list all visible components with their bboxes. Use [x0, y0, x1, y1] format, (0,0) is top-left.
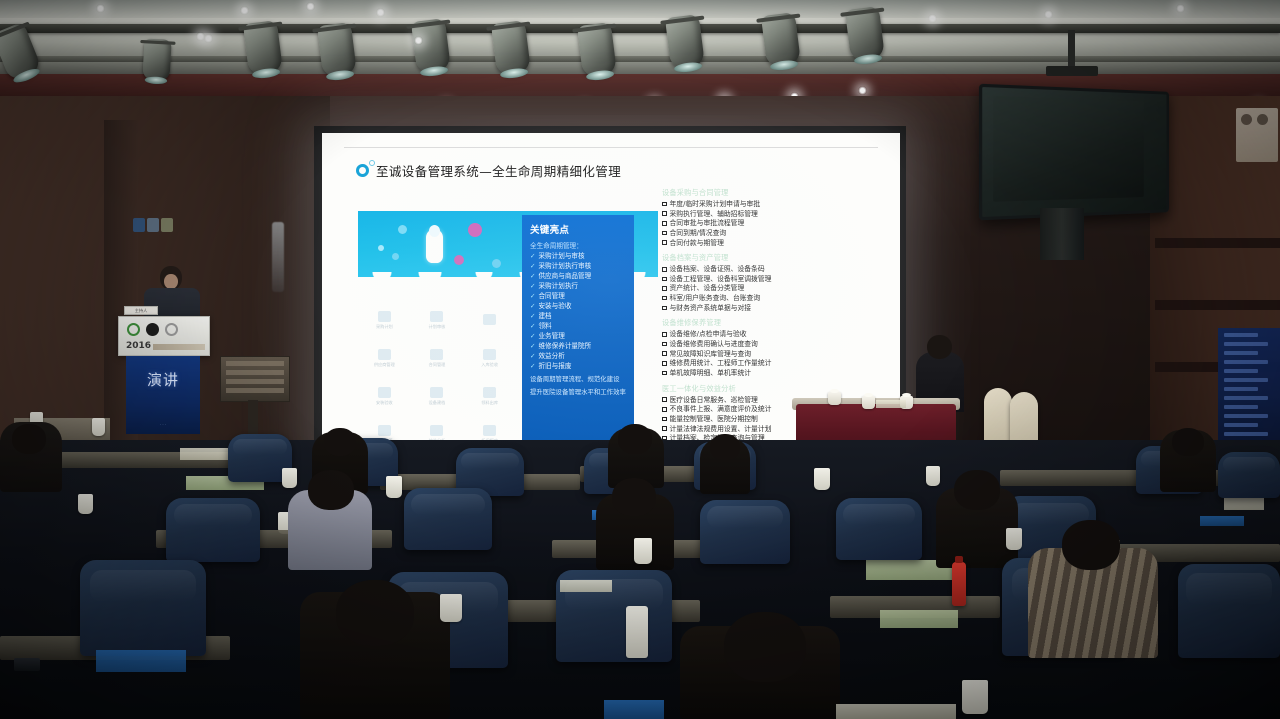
gear-icon [356, 164, 369, 177]
workflow-icon-cell: 领料出库 [463, 377, 516, 415]
audience-head [12, 424, 46, 454]
key-point-label: 采购计划与审核 [538, 253, 584, 260]
chart-icon [430, 425, 443, 436]
checkbox-icon [662, 231, 667, 236]
module-item-label: 科室/用户账务查询、台账查询 [670, 294, 761, 304]
checkbox-icon [662, 296, 667, 301]
checkbox-icon [662, 267, 667, 272]
stage-light [665, 14, 705, 70]
workflow-icon-label: 合同管理 [429, 362, 446, 368]
stage-light-pole [142, 39, 171, 82]
right-wall-trim [1155, 238, 1280, 248]
module-item: 合同付款与期管理 [662, 239, 872, 249]
checkbox-icon [662, 342, 667, 347]
bubble-icon [454, 255, 464, 265]
folder-icon [430, 387, 443, 398]
workflow-icon-label: 供应商管理 [374, 362, 395, 368]
podium-nameplate-text: 主持人 [125, 307, 157, 315]
paper-cup [962, 680, 988, 714]
key-point-label: 维修保养计量院所 [538, 343, 591, 350]
tv-mount-bracket [1046, 66, 1098, 76]
handshake-icon [378, 349, 391, 360]
module-item-label: 计量法律法规费用设置、计量计划 [670, 425, 772, 435]
umbrella-icon [468, 223, 482, 237]
audience-head [954, 470, 1000, 510]
podium-tagline-bar [153, 344, 205, 350]
teacup [862, 396, 875, 409]
speaker-face [164, 274, 178, 289]
penguin-mascot-icon [426, 229, 443, 263]
av-equipment-rack [220, 356, 290, 402]
module-item: 科室/用户账务查询、台账查询 [662, 294, 872, 304]
audience-head [1062, 520, 1120, 570]
chair [404, 488, 492, 550]
checkbox-icon [662, 306, 667, 311]
audience-head [324, 428, 356, 456]
mobile-phone [14, 658, 40, 671]
key-point-label: 效益分析 [538, 353, 564, 360]
check-icon: ✓ [530, 343, 535, 350]
module-item-label: 采购执行管理、辅助招标管理 [670, 210, 758, 220]
paper-cup [1006, 528, 1022, 550]
blank-icon [483, 314, 496, 325]
key-point-item: ✓领料 [530, 323, 626, 330]
key-point-label: 业务管理 [538, 333, 564, 340]
module-item-label: 设备维修费用确认与进度查询 [670, 340, 758, 350]
workflow-icon-cell: 设备建档 [411, 377, 464, 415]
check-icon: ✓ [530, 303, 535, 310]
lighting-truss [0, 24, 1280, 33]
check-icon: ✓ [530, 323, 535, 330]
module-item: 与财务资产系统单据与对接 [662, 304, 872, 314]
key-points-note: 设备周期管理流程、规范化建设 [530, 375, 626, 383]
document-icon [378, 311, 391, 322]
outline-circle-logo-icon [165, 323, 178, 336]
checkbox-icon [662, 397, 667, 402]
workflow-icon-label: 领料出库 [481, 400, 498, 406]
slide-title-divider [344, 147, 878, 148]
tv-lower-housing [1040, 208, 1084, 260]
module-item: 合同审批与审批流程管理 [662, 219, 872, 229]
key-points-panel: 关键亮点 全生命周期管理： ✓采购计划与审核✓采购计划执行审核✓供应商与商品管理… [522, 215, 634, 460]
check-icon: ✓ [530, 313, 535, 320]
workflow-icon-cell: 计划审核 [411, 301, 464, 339]
check-icon: ✓ [530, 263, 535, 270]
podium-year: 2016 [126, 341, 151, 351]
module-item-label: 不良事件上报、满意度评价及统计 [670, 405, 772, 415]
conference-hall-photo: 至诚设备管理系统—全生命周期精细化管理 关键亮点 全生命周期管理： ✓采购计划与… [0, 0, 1280, 719]
audience-head [1172, 428, 1204, 456]
module-heading: 设备采购与合同管理 [662, 188, 872, 198]
water-bottle [626, 606, 648, 658]
paper-cup [78, 494, 93, 514]
module-heading: 设备维修保养管理 [662, 318, 872, 328]
check-icon: ✓ [530, 363, 535, 370]
ceiling-speaker [1236, 108, 1278, 162]
workflow-icon-label: 入库验收 [481, 362, 498, 368]
key-point-item: ✓采购计划与审核 [530, 253, 626, 260]
audience-head [710, 434, 740, 460]
module-item-label: 能量控制管理、医院分期控制 [670, 415, 758, 425]
module-item-label: 年度/临时采购计划申请与审批 [670, 200, 761, 210]
module-item-label: 合同到期/情况查询 [670, 229, 727, 239]
paper [180, 448, 228, 460]
paper-cup [282, 468, 297, 488]
check-icon: ✓ [530, 353, 535, 360]
checkbox-icon [662, 211, 667, 216]
podium-base-label: 演讲 [126, 372, 200, 390]
key-point-item: ✓建档 [530, 313, 626, 320]
head-table-chair [984, 388, 1012, 448]
audience-head [612, 478, 656, 516]
stage-light [491, 20, 531, 76]
key-point-item: ✓业务管理 [530, 333, 626, 340]
stage-light [761, 12, 801, 68]
wall-sconce [272, 222, 284, 292]
module-item-label: 资产统计、设备分类管理 [670, 284, 745, 294]
module-item: 合同到期/情况查询 [662, 229, 872, 239]
chair [166, 498, 260, 562]
paper [560, 580, 612, 592]
bubble-icon [398, 225, 407, 234]
chair [80, 560, 206, 656]
blue-folder [1200, 516, 1244, 526]
module-item-label: 设备维修/点检申请与验收 [670, 330, 747, 340]
checkbox-icon [662, 407, 667, 412]
podium-nameplate: 主持人 [124, 306, 158, 315]
checkbox-icon [662, 221, 667, 226]
check-icon: ✓ [530, 253, 535, 260]
checkbox-icon [662, 417, 667, 422]
check-icon: ✓ [530, 283, 535, 290]
podium-logos [127, 323, 178, 336]
paper-cup [386, 476, 402, 498]
paper-cup [926, 466, 940, 486]
ring-logo-icon [127, 323, 140, 336]
paper-cup [92, 418, 105, 436]
key-point-label: 供应商与商品管理 [538, 273, 591, 280]
paper-cup [634, 538, 652, 564]
paper [1224, 498, 1264, 510]
slide-title-text: 至诚设备管理系统—全生命周期精细化管理 [376, 161, 621, 180]
key-point-item: ✓维修保养计量院所 [530, 343, 626, 350]
document [876, 400, 906, 408]
recycle-icon [483, 425, 496, 436]
module-item-label: 合同付款与期管理 [670, 239, 724, 249]
stage-light [243, 20, 283, 76]
box-icon [483, 387, 496, 398]
module-item-label: 与财务资产系统单据与对接 [670, 304, 752, 314]
module-item-label: 合同审批与审批流程管理 [670, 219, 745, 229]
key-point-item: ✓合同管理 [530, 293, 626, 300]
stage-light [317, 22, 357, 78]
blue-standing-banner [1218, 328, 1280, 440]
key-point-label: 建档 [538, 313, 551, 320]
key-point-label: 折旧与报废 [538, 363, 571, 370]
module-item: 单机故障明细、单机率统计 [662, 369, 872, 379]
module-item: 设备档案、设备证照、设备条码 [662, 265, 872, 275]
ceiling-downlight [414, 36, 423, 45]
checkbox-icon [662, 286, 667, 291]
key-points-notes: 设备周期管理流程、规范化建设提升医院设备管理水平和工作效率 [530, 375, 626, 396]
audience-head [336, 580, 414, 646]
workflow-icon-cell: 安装验收 [358, 377, 411, 415]
module-item-label: 常见故障知识库管理与查询 [670, 350, 752, 360]
stage-light [577, 22, 617, 78]
key-point-item: ✓效益分析 [530, 353, 626, 360]
audience-head [618, 424, 652, 454]
key-point-label: 安装与验收 [538, 303, 571, 310]
module-item-label: 单机故障明细、单机率统计 [670, 369, 752, 379]
module-item: 设备维修费用确认与进度查询 [662, 340, 872, 350]
module-item-label: 设备档案、设备证照、设备条码 [670, 265, 765, 275]
audience-head [724, 612, 806, 682]
checklist-icon [430, 311, 443, 322]
workflow-icon-cell [463, 301, 516, 339]
solid-circle-logo-icon [146, 323, 159, 336]
workflow-icon-label: 安装验收 [376, 400, 393, 406]
key-points-subheading: 全生命周期管理： [530, 240, 626, 250]
check-icon: ✓ [530, 333, 535, 340]
inbox-icon [483, 349, 496, 360]
tools-icon [378, 425, 391, 436]
key-points-list: ✓采购计划与审核✓采购计划执行审核✓供应商与商品管理✓采购计划执行✓合同管理✓安… [530, 253, 626, 370]
ceiling-downlight [240, 6, 249, 15]
bubble-icon [492, 259, 501, 268]
workflow-icon-label: 采购计划 [376, 324, 393, 330]
key-points-heading: 关键亮点 [530, 222, 626, 236]
checkbox-icon [662, 202, 667, 207]
ceiling-downlight [204, 34, 213, 43]
bubble-icon [378, 245, 384, 251]
contract-icon [430, 349, 443, 360]
checkbox-icon [662, 426, 667, 431]
tv-mount-arm [1068, 30, 1075, 70]
chair [700, 500, 790, 564]
module-item: 设备维修/点检申请与验收 [662, 330, 872, 340]
key-point-label: 采购计划执行 [538, 283, 578, 290]
checkbox-icon [662, 240, 667, 245]
workflow-icon-cell: 供应商管理 [358, 339, 411, 377]
wall-mounted-tv [979, 84, 1169, 221]
chair [836, 498, 922, 560]
paper-cup [440, 594, 462, 622]
bubble-icon [392, 253, 399, 260]
key-point-item: ✓供应商与商品管理 [530, 273, 626, 280]
key-point-item: ✓采购计划执行审核 [530, 263, 626, 270]
stage-light [845, 6, 885, 62]
podium-base-logo: · · · [126, 422, 200, 427]
audience-head [308, 470, 354, 510]
workflow-icon-grid: 采购计划计划审核供应商管理合同管理入库验收安装验收设备建档领料出库维修保养效益分… [358, 301, 516, 453]
workflow-icon-label: 计划审核 [429, 324, 446, 330]
module-item: 常见故障知识库管理与查询 [662, 350, 872, 360]
module-heading: 设备档案与资产管理 [662, 253, 872, 263]
checkbox-icon [662, 277, 667, 282]
slide-title: 至诚设备管理系统—全生命周期精细化管理 [356, 161, 621, 180]
module-item: 资产统计、设备分类管理 [662, 284, 872, 294]
stage-light [411, 18, 451, 74]
workflow-icon-cell: 入库验收 [463, 339, 516, 377]
module-item: 维修费用统计、工程师工作量统计 [662, 359, 872, 369]
module-item: 年度/临时采购计划申请与审批 [662, 200, 872, 210]
checkbox-icon [662, 332, 667, 337]
module-item: 采购执行管理、辅助招标管理 [662, 210, 872, 220]
tv-screen [993, 96, 1144, 202]
ceiling-downlight [376, 8, 385, 17]
check-icon: ✓ [530, 273, 535, 280]
blue-folder [96, 650, 186, 672]
paper-cup [814, 468, 830, 490]
ceiling-downlight [928, 14, 937, 23]
ceiling-edge [0, 0, 1280, 18]
lighting-truss-secondary [0, 56, 1280, 62]
check-icon: ✓ [530, 293, 535, 300]
checkbox-icon [662, 351, 667, 356]
workflow-icon-label: 设备建档 [429, 400, 446, 406]
key-point-item: ✓采购计划执行 [530, 283, 626, 290]
red-thermos [952, 562, 966, 606]
ceiling-downlight [306, 2, 315, 11]
blue-folder [604, 700, 664, 719]
right-wall-trim [1155, 300, 1280, 310]
key-point-label: 领料 [538, 323, 551, 330]
module-item-label: 维修费用统计、工程师工作量统计 [670, 359, 772, 369]
chair [1218, 452, 1280, 498]
key-point-item: ✓折旧与报废 [530, 363, 626, 370]
ceiling-downlight [1176, 4, 1185, 13]
chair [1178, 564, 1280, 658]
workflow-icon-cell: 合同管理 [411, 339, 464, 377]
ceiling-downlight [1044, 10, 1053, 19]
paper [880, 610, 958, 628]
podium-sign: 2016 [118, 316, 210, 356]
module-item-label: 医疗设备日常服务、巡检管理 [670, 396, 758, 406]
workflow-icon-cell: 采购计划 [358, 301, 411, 339]
paper [836, 704, 956, 719]
ceiling-downlight [96, 4, 105, 13]
key-point-label: 合同管理 [538, 293, 564, 300]
ceiling-downlight [858, 86, 867, 95]
key-point-label: 采购计划执行审核 [538, 263, 591, 270]
checkbox-icon [662, 371, 667, 376]
key-point-item: ✓安装与验收 [530, 303, 626, 310]
teacup [828, 392, 841, 405]
key-points-note: 提升医院设备管理水平和工作效率 [530, 388, 626, 396]
checkbox-icon [662, 361, 667, 366]
back-wall-logo [133, 218, 189, 234]
wrench-icon [378, 387, 391, 398]
